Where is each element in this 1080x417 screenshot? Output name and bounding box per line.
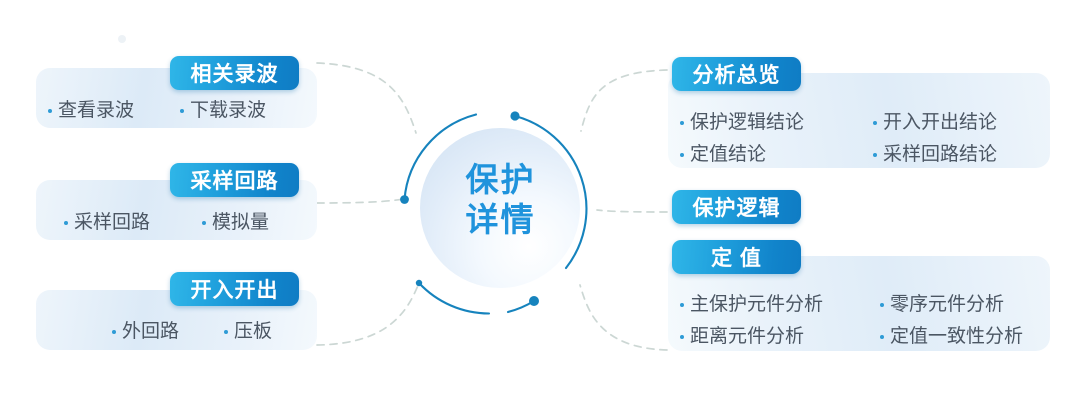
list-item[interactable]: 开入开出结论 [873, 113, 1048, 132]
list-item[interactable]: 定值一致性分析 [880, 327, 1048, 346]
badge-left-2[interactable]: 采样回路 [170, 163, 299, 197]
items-left-1: 查看录波 下载录波 [48, 101, 308, 120]
bullet-icon [48, 109, 52, 113]
badge-left-3[interactable]: 开入开出 [170, 272, 299, 306]
list-item-label: 下载录波 [190, 101, 266, 120]
items-right-1: 保护逻辑结论 开入开出结论 定值结论 采样回路结论 [680, 113, 1048, 164]
bullet-icon [680, 121, 684, 125]
bullet-icon [64, 221, 68, 225]
list-item[interactable]: 外回路 [112, 322, 224, 341]
list-item-label: 采样回路 [74, 213, 150, 232]
bullet-icon [680, 335, 684, 339]
list-item-label: 模拟量 [212, 213, 269, 232]
center-hub[interactable]: 保护 详情 [398, 108, 603, 313]
list-item[interactable]: 定值结论 [680, 145, 873, 164]
hub-title-line2: 详情 [398, 200, 603, 240]
items-left-2: 采样回路 模拟量 [64, 213, 312, 232]
bullet-icon [873, 153, 877, 157]
list-item[interactable]: 采样回路结论 [873, 145, 1048, 164]
bullet-icon [680, 303, 684, 307]
list-item-label: 定值一致性分析 [890, 327, 1023, 346]
list-item[interactable]: 压板 [224, 322, 312, 341]
bullet-icon [880, 303, 884, 307]
badge-left-3-label: 开入开出 [191, 274, 279, 304]
infographic-canvas: 相关录波 查看录波 下载录波 采样回路 采样回路 模拟量 开入开出 外回路 [0, 0, 1080, 417]
badge-right-3[interactable]: 定 值 [672, 240, 801, 274]
bullet-icon [112, 330, 116, 334]
list-item-label: 主保护元件分析 [690, 295, 823, 314]
list-item-label: 定值结论 [690, 145, 766, 164]
list-item-label: 距离元件分析 [690, 327, 804, 346]
list-item-label: 外回路 [122, 322, 179, 341]
bullet-icon [202, 221, 206, 225]
badge-left-2-label: 采样回路 [191, 165, 279, 195]
badge-left-1[interactable]: 相关录波 [170, 56, 299, 90]
badge-right-2-label: 保护逻辑 [693, 192, 781, 222]
hub-title: 保护 详情 [398, 160, 603, 241]
badge-left-1-label: 相关录波 [191, 58, 279, 88]
list-item-label: 开入开出结论 [883, 113, 997, 132]
bullet-icon [880, 335, 884, 339]
bullet-icon [680, 153, 684, 157]
badge-right-1[interactable]: 分析总览 [672, 57, 801, 91]
badge-right-3-label: 定 值 [711, 242, 762, 272]
list-item-label: 保护逻辑结论 [690, 113, 804, 132]
items-left-3: 外回路 压板 [112, 322, 312, 341]
list-item[interactable]: 主保护元件分析 [680, 295, 880, 314]
list-item[interactable]: 模拟量 [202, 213, 312, 232]
bullet-icon [873, 121, 877, 125]
bullet-icon [180, 109, 184, 113]
list-item-label: 采样回路结论 [883, 145, 997, 164]
list-item[interactable]: 零序元件分析 [880, 295, 1048, 314]
list-item-label: 查看录波 [58, 101, 134, 120]
items-right-3: 主保护元件分析 零序元件分析 距离元件分析 定值一致性分析 [680, 295, 1048, 346]
list-item[interactable]: 查看录波 [48, 101, 180, 120]
bullet-icon [224, 330, 228, 334]
list-item-label: 压板 [234, 322, 272, 341]
badge-right-1-label: 分析总览 [693, 59, 781, 89]
badge-right-2[interactable]: 保护逻辑 [672, 190, 801, 224]
list-item[interactable]: 采样回路 [64, 213, 202, 232]
list-item[interactable]: 保护逻辑结论 [680, 113, 873, 132]
decorative-speck [118, 35, 126, 43]
list-item-label: 零序元件分析 [890, 295, 1004, 314]
hub-title-line1: 保护 [398, 160, 603, 200]
list-item[interactable]: 距离元件分析 [680, 327, 880, 346]
list-item[interactable]: 下载录波 [180, 101, 308, 120]
